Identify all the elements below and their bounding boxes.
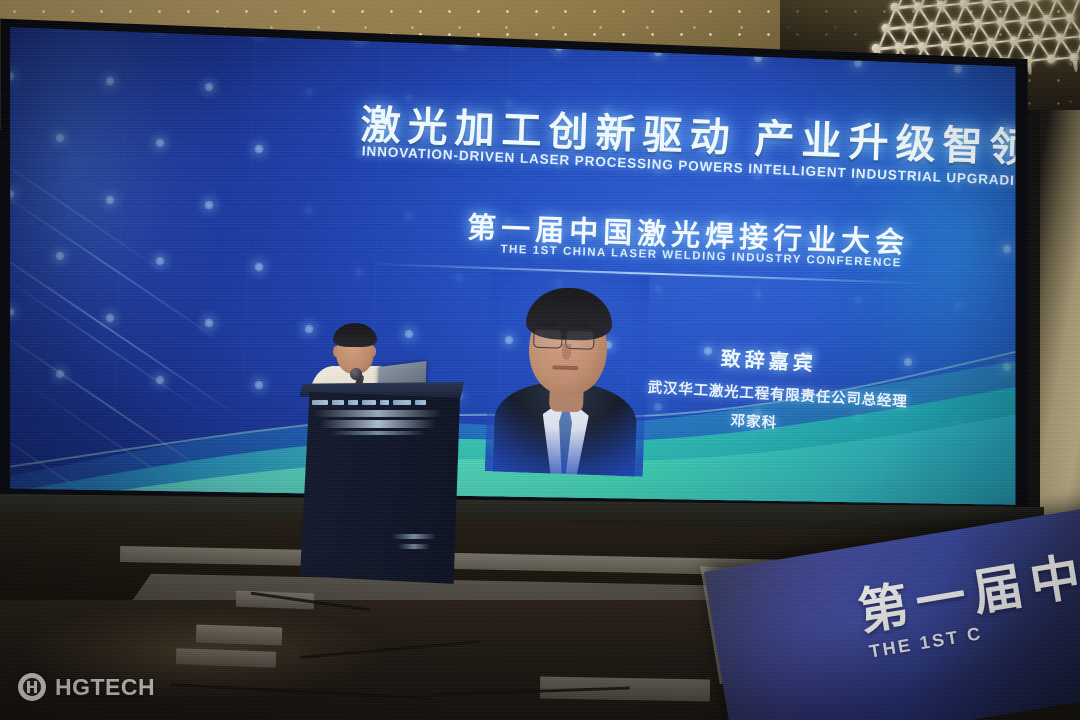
podium-bottom-logo-line-1 <box>392 534 436 539</box>
chandelier-bar <box>886 26 905 30</box>
hgtech-watermark: HGTECH <box>18 672 155 702</box>
chandelier-bar <box>987 0 1006 4</box>
speaker-affiliation-title: 武汉华工激光工程有限责任公司总经理 <box>647 376 908 411</box>
chandelier-bar <box>894 7 907 25</box>
microphone-head-icon <box>350 368 362 380</box>
speaker-portrait-photo <box>485 271 650 476</box>
speaker-role-label: 致辞嘉宾 <box>720 342 817 376</box>
hgtech-circle-h-logo-icon <box>18 673 46 701</box>
chandelier-bar <box>1024 18 1043 22</box>
podium-sponsor-logos <box>312 398 444 407</box>
chandelier-bar <box>900 45 919 49</box>
stage-step <box>196 625 283 646</box>
chandelier-bar <box>917 6 930 24</box>
podium-bottom-logo-line-2 <box>398 544 430 549</box>
hgtech-brand-text: HGTECH <box>55 674 155 701</box>
chandelier-bar <box>1029 58 1048 62</box>
chandelier-bar <box>895 5 914 9</box>
conference-stage-screenshot: 激光加工创新驱动 产业升级智领未来 INNOVATION-DRIVEN LASE… <box>0 0 1080 720</box>
chandelier-drop <box>1073 61 1078 72</box>
led-screen: 激光加工创新驱动 产业升级智领未来 INNOVATION-DRIVEN LASE… <box>0 10 1032 518</box>
podium-title-line-2 <box>320 420 436 428</box>
podium-front-graphic <box>312 398 444 434</box>
presenter-hair <box>333 323 377 347</box>
speaker-name: 邓家科 <box>730 409 778 433</box>
screen-text-block: 激光加工创新驱动 产业升级智领未来 INNOVATION-DRIVEN LASE… <box>0 10 1032 518</box>
chandelier-bar <box>1037 37 1056 41</box>
chandelier-bar <box>877 46 896 50</box>
portrait-edge-fade <box>485 271 650 476</box>
chandelier-drop <box>1027 64 1032 75</box>
podium-title-line-1 <box>314 410 442 417</box>
podium-title-line-3 <box>330 431 426 435</box>
podium-bottom-logo <box>392 534 440 554</box>
